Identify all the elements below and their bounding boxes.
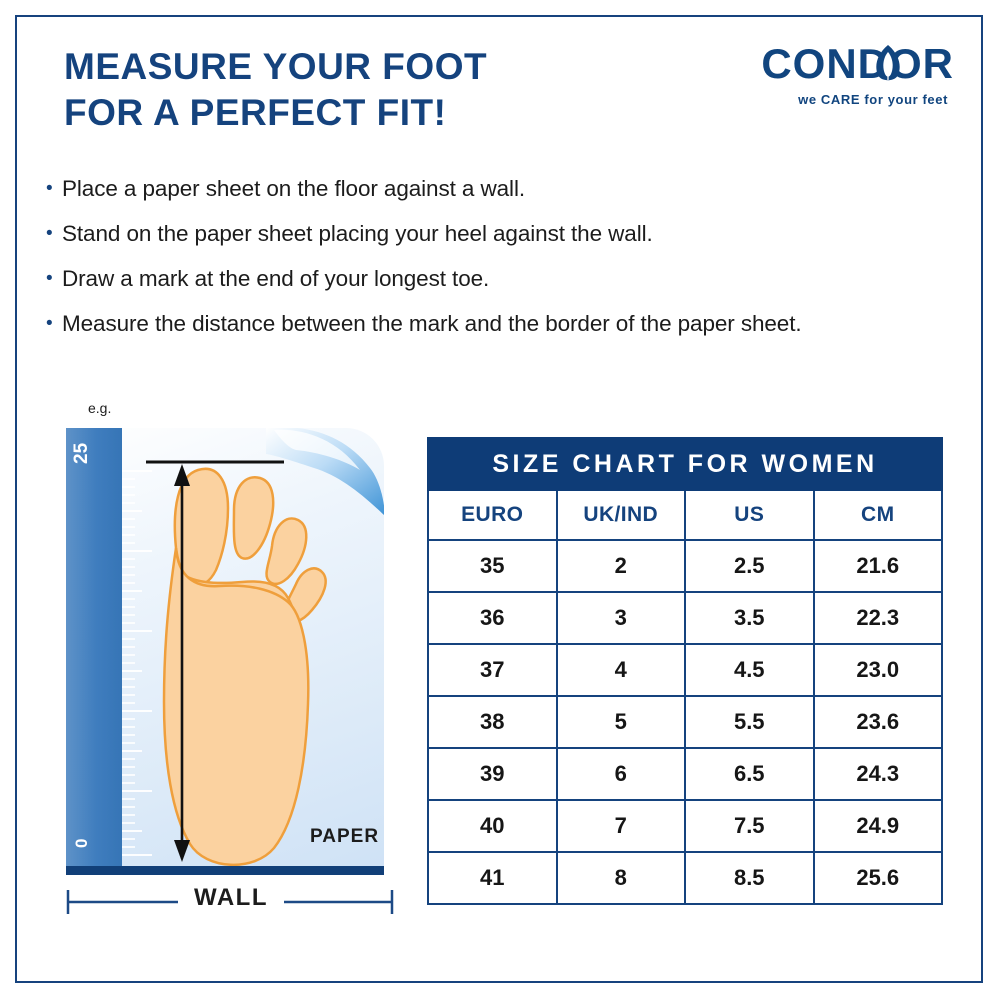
list-item-text: Place a paper sheet on the floor against… (62, 176, 525, 202)
wall-bar (66, 866, 384, 875)
cell-ukind: 3 (557, 592, 686, 644)
table-row: 40 7 7.5 24.9 (428, 800, 942, 852)
cell-euro: 37 (428, 644, 557, 696)
cell-euro: 36 (428, 592, 557, 644)
cell-ukind: 4 (557, 644, 686, 696)
cell-cm: 23.0 (814, 644, 943, 696)
table-row: 37 4 4.5 23.0 (428, 644, 942, 696)
column-header-ukind: UK/IND (557, 490, 686, 540)
cell-euro: 40 (428, 800, 557, 852)
cell-cm: 24.9 (814, 800, 943, 852)
cell-us: 3.5 (685, 592, 814, 644)
table-row: 41 8 8.5 25.6 (428, 852, 942, 904)
brand-logo: CONDOR we CARE for your feet (714, 42, 954, 112)
page-title-line-2: FOR A PERFECT FIT! (64, 90, 664, 136)
cell-euro: 35 (428, 540, 557, 592)
size-chart-table: SIZE CHART FOR WOMEN EURO UK/IND US CM 3… (427, 437, 943, 905)
cell-ukind: 8 (557, 852, 686, 904)
paper-label: PAPER (310, 826, 379, 848)
cell-us: 5.5 (685, 696, 814, 748)
bullet-icon: • (46, 311, 62, 337)
measurement-arrow (146, 456, 306, 868)
logo-tagline: we CARE for your feet (798, 92, 948, 107)
cell-cm: 25.6 (814, 852, 943, 904)
cell-ukind: 5 (557, 696, 686, 748)
infographic-page: MEASURE YOUR FOOT FOR A PERFECT FIT! CON… (0, 0, 1000, 1000)
bullet-icon: • (46, 221, 62, 247)
column-header-us: US (685, 490, 814, 540)
list-item-text: Draw a mark at the end of your longest t… (62, 266, 489, 292)
list-item: • Measure the distance between the mark … (46, 311, 946, 337)
cell-ukind: 7 (557, 800, 686, 852)
column-header-cm: CM (814, 490, 943, 540)
cell-cm: 21.6 (814, 540, 943, 592)
bullet-icon: • (46, 266, 62, 292)
cell-cm: 22.3 (814, 592, 943, 644)
cell-euro: 38 (428, 696, 557, 748)
ruler-value-0: 0 (72, 839, 92, 848)
page-title: MEASURE YOUR FOOT FOR A PERFECT FIT! (64, 44, 664, 136)
list-item: • Draw a mark at the end of your longest… (46, 266, 946, 292)
cell-cm: 24.3 (814, 748, 943, 800)
cell-ukind: 2 (557, 540, 686, 592)
logo-wordmark: CONDOR (761, 42, 954, 86)
wall-label: WALL (66, 884, 396, 912)
bullet-icon: • (46, 176, 62, 202)
feather-in-o-icon (868, 44, 908, 86)
column-header-euro: EURO (428, 490, 557, 540)
cell-euro: 39 (428, 748, 557, 800)
table-header-row: EURO UK/IND US CM (428, 490, 942, 540)
table-row: 35 2 2.5 21.6 (428, 540, 942, 592)
list-item: • Place a paper sheet on the floor again… (46, 176, 946, 202)
table-title-row: SIZE CHART FOR WOMEN (428, 438, 942, 490)
cell-cm: 23.6 (814, 696, 943, 748)
instruction-list: • Place a paper sheet on the floor again… (46, 176, 946, 356)
cell-euro: 41 (428, 852, 557, 904)
page-title-line-1: MEASURE YOUR FOOT (64, 44, 664, 90)
table-row: 38 5 5.5 23.6 (428, 696, 942, 748)
table-row: 36 3 3.5 22.3 (428, 592, 942, 644)
cell-us: 2.5 (685, 540, 814, 592)
cell-us: 7.5 (685, 800, 814, 852)
cell-us: 6.5 (685, 748, 814, 800)
cell-us: 8.5 (685, 852, 814, 904)
list-item-text: Stand on the paper sheet placing your he… (62, 221, 653, 247)
foot-measurement-diagram: e.g. 25 0 (66, 400, 396, 915)
ruler-value-25: 25 (71, 443, 93, 464)
list-item: • Stand on the paper sheet placing your … (46, 221, 946, 247)
table-row: 39 6 6.5 24.3 (428, 748, 942, 800)
table-title: SIZE CHART FOR WOMEN (428, 438, 942, 490)
cell-us: 4.5 (685, 644, 814, 696)
ruler-illustration: 25 0 (66, 428, 122, 868)
list-item-text: Measure the distance between the mark an… (62, 311, 802, 337)
example-label: e.g. (88, 400, 111, 416)
cell-ukind: 6 (557, 748, 686, 800)
